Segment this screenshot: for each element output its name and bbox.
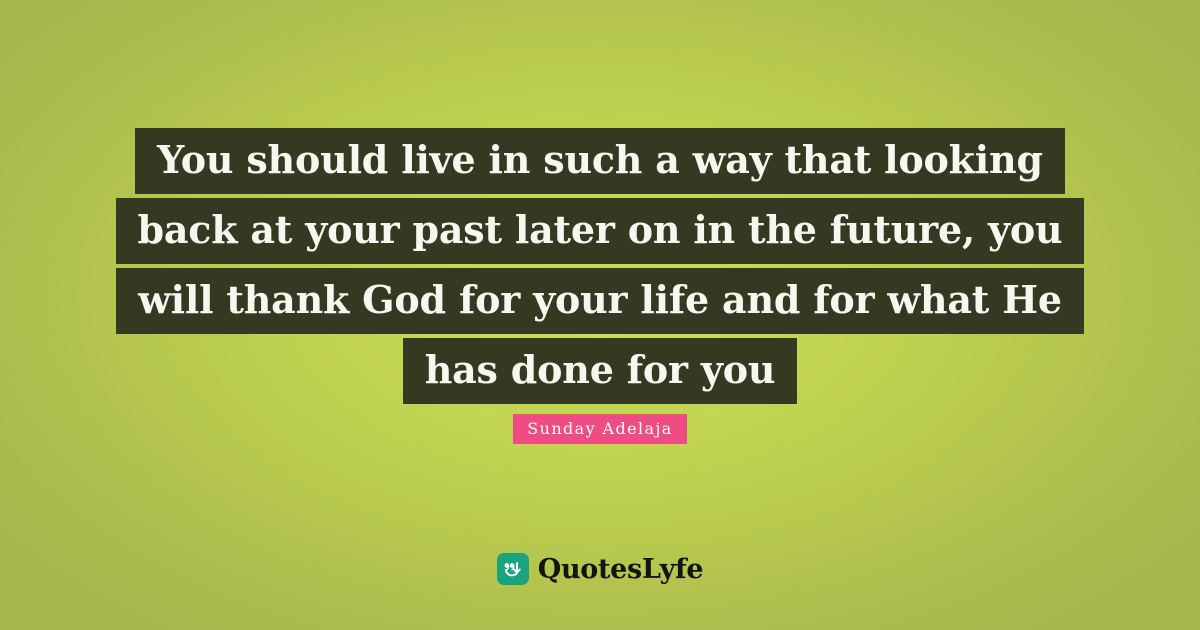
quote-card: You should live in such a way that looki… xyxy=(0,0,1200,630)
brand-logo: QuotesLyfe xyxy=(0,553,1200,585)
author-attribution: Sunday Adelaja xyxy=(0,414,1200,444)
quote-line: back at your past later on in the future… xyxy=(116,198,1085,264)
quote-line: has done for you xyxy=(403,338,798,404)
quote-line: will thank God for your life and for wha… xyxy=(116,268,1084,334)
quote-line: You should live in such a way that looki… xyxy=(135,128,1065,194)
quote-text-block: You should live in such a way that looki… xyxy=(0,128,1200,408)
brand-name: QuotesLyfe xyxy=(538,556,704,583)
author-name-badge: Sunday Adelaja xyxy=(513,414,687,444)
quote-smiley-icon xyxy=(497,553,529,585)
